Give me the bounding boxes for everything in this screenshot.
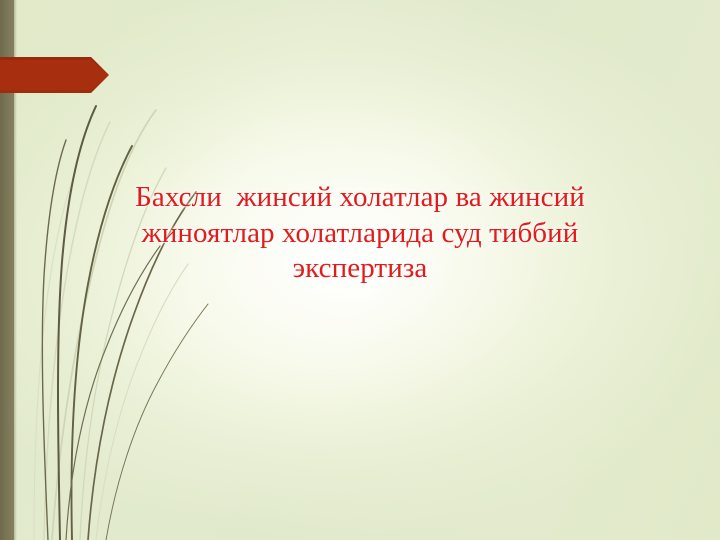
grass-blade-dark-6 (106, 304, 208, 540)
title-line-3: экспертиза (72, 251, 648, 287)
presentation-slide: Бахсли жинсий холатлар ва жинсий жиноятл… (0, 0, 720, 540)
arrow-banner-body (0, 57, 109, 93)
title-line-1: Бахсли жинсий холатлар ва жинсий (72, 180, 648, 216)
slide-title: Бахсли жинсий холатлар ва жинсий жиноятл… (72, 180, 648, 287)
grass-blade-dark-4 (42, 140, 66, 540)
grass-blade-dark-5 (66, 246, 160, 540)
title-line-2: жиноятлар холатларида суд тиббий (72, 216, 648, 252)
arrow-banner-shape (0, 57, 109, 93)
grass-blade-light-5 (96, 264, 188, 540)
grass-blade-light-1 (52, 110, 156, 540)
